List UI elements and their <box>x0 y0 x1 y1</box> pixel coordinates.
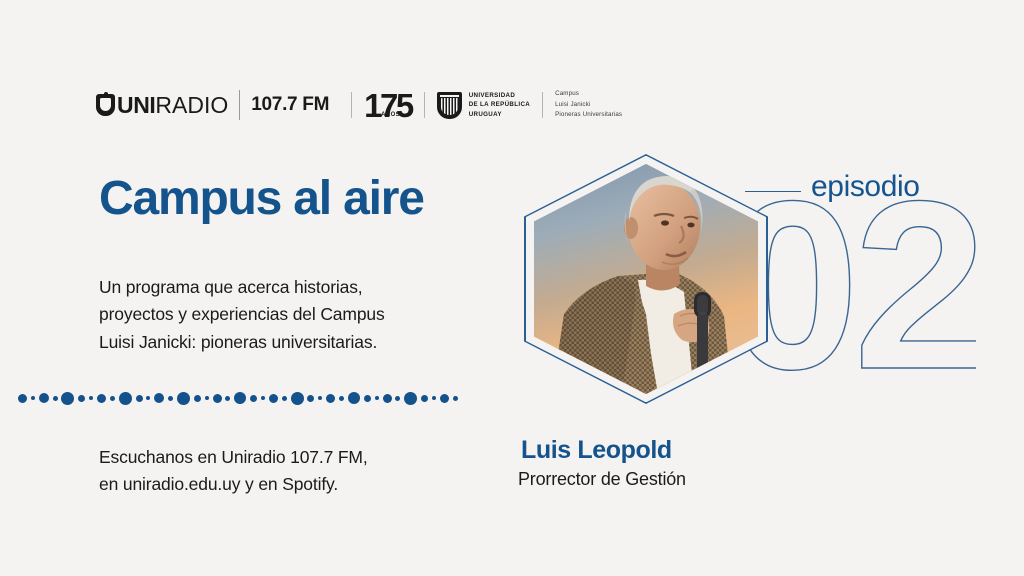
divider-dot <box>291 392 304 405</box>
divider-dot <box>31 396 35 400</box>
radio-frequency-label: 107.7 FM <box>251 94 329 116</box>
divider-dot <box>213 394 222 403</box>
divider-dot <box>194 395 201 402</box>
divider-dot <box>307 395 314 402</box>
divider-dot <box>383 394 392 403</box>
divider-dot <box>146 396 150 400</box>
divider-dot <box>18 394 27 403</box>
program-description: Un programa que acerca historias, proyec… <box>99 274 385 356</box>
anniversary-175-logo: 175 AÑOS <box>364 89 412 122</box>
divider-dot <box>225 396 230 401</box>
divider-dot <box>282 396 287 401</box>
divider-dot <box>348 392 360 404</box>
divider-dot <box>168 396 173 401</box>
campus-line-3: Pioneras Universitarias <box>555 110 622 121</box>
guest-photo-hexagon <box>524 154 768 404</box>
divider-dot <box>110 396 115 401</box>
divider-dot <box>78 395 85 402</box>
divider-dot <box>136 395 143 402</box>
divider-dot <box>326 394 335 403</box>
divider-dot <box>395 396 400 401</box>
campus-wordmark: Campus Luisi Janicki Pioneras Universita… <box>555 89 622 122</box>
divider-dot <box>404 392 417 405</box>
divider-dot <box>177 392 190 405</box>
divider-dot <box>250 395 257 402</box>
divider-dot <box>205 396 209 400</box>
guest-name: Luis Leopold <box>521 438 672 463</box>
divider-dot <box>453 396 458 401</box>
divider-dot <box>364 395 371 402</box>
program-description-line-2: proyectos y experiencias del Campus <box>99 301 385 328</box>
episode-label: episodio <box>811 172 920 202</box>
divider-dot <box>339 396 344 401</box>
page-title: Campus al aire <box>99 175 424 223</box>
udelar-line-1: UNIVERSIDAD <box>469 91 530 100</box>
guest-role: Prorrector de Gestión <box>518 470 686 488</box>
listen-line-1: Escuchanos en Uniradio 107.7 FM, <box>99 444 368 471</box>
listen-line-2: en uniradio.edu.uy y en Spotify. <box>99 471 368 498</box>
udelar-wordmark: UNIVERSIDAD DE LA REPÚBLICA URUGUAY <box>469 91 530 119</box>
brand-divider <box>424 92 425 118</box>
udelar-line-2: DE LA REPÚBLICA <box>469 100 530 109</box>
episode-connector-line <box>745 191 801 192</box>
campus-line-1: Campus <box>555 89 622 100</box>
divider-dot <box>234 392 246 404</box>
divider-dot <box>318 396 322 400</box>
uniradio-radio-text: RADIO <box>155 92 228 118</box>
anniversary-caption: AÑOS <box>381 112 400 118</box>
uniradio-wordmark: UNIRADIO <box>117 94 228 117</box>
brand-divider <box>542 92 543 118</box>
divider-dot <box>261 396 265 400</box>
divider-dot <box>89 396 93 400</box>
uniradio-uni-text: UNI <box>117 92 155 118</box>
divider-dot <box>154 393 164 403</box>
brand-divider <box>239 90 240 120</box>
divider-dot <box>61 392 74 405</box>
divider-dot <box>119 392 132 405</box>
campus-line-2: Luisi Janicki <box>555 100 622 111</box>
dotted-divider <box>18 390 458 406</box>
divider-dot <box>375 396 379 400</box>
divider-dot <box>432 396 436 400</box>
listen-info: Escuchanos en Uniradio 107.7 FM, en unir… <box>99 444 368 499</box>
divider-dot <box>421 395 428 402</box>
divider-dot <box>269 394 278 403</box>
program-description-line-1: Un programa que acerca historias, <box>99 274 385 301</box>
divider-dot <box>97 394 106 403</box>
divider-dot <box>39 393 49 403</box>
brand-divider <box>351 92 352 118</box>
udelar-line-3: URUGUAY <box>469 110 530 119</box>
uniradio-logo-icon <box>96 94 115 116</box>
divider-dot <box>53 396 58 401</box>
divider-dot <box>440 394 449 403</box>
udelar-shield-icon <box>437 92 462 119</box>
brand-bar: UNIRADIO 107.7 FM 175 AÑOS UNIVERSIDAD D… <box>96 88 622 122</box>
program-description-line-3: Luisi Janicki: pioneras universitarias. <box>99 329 385 356</box>
